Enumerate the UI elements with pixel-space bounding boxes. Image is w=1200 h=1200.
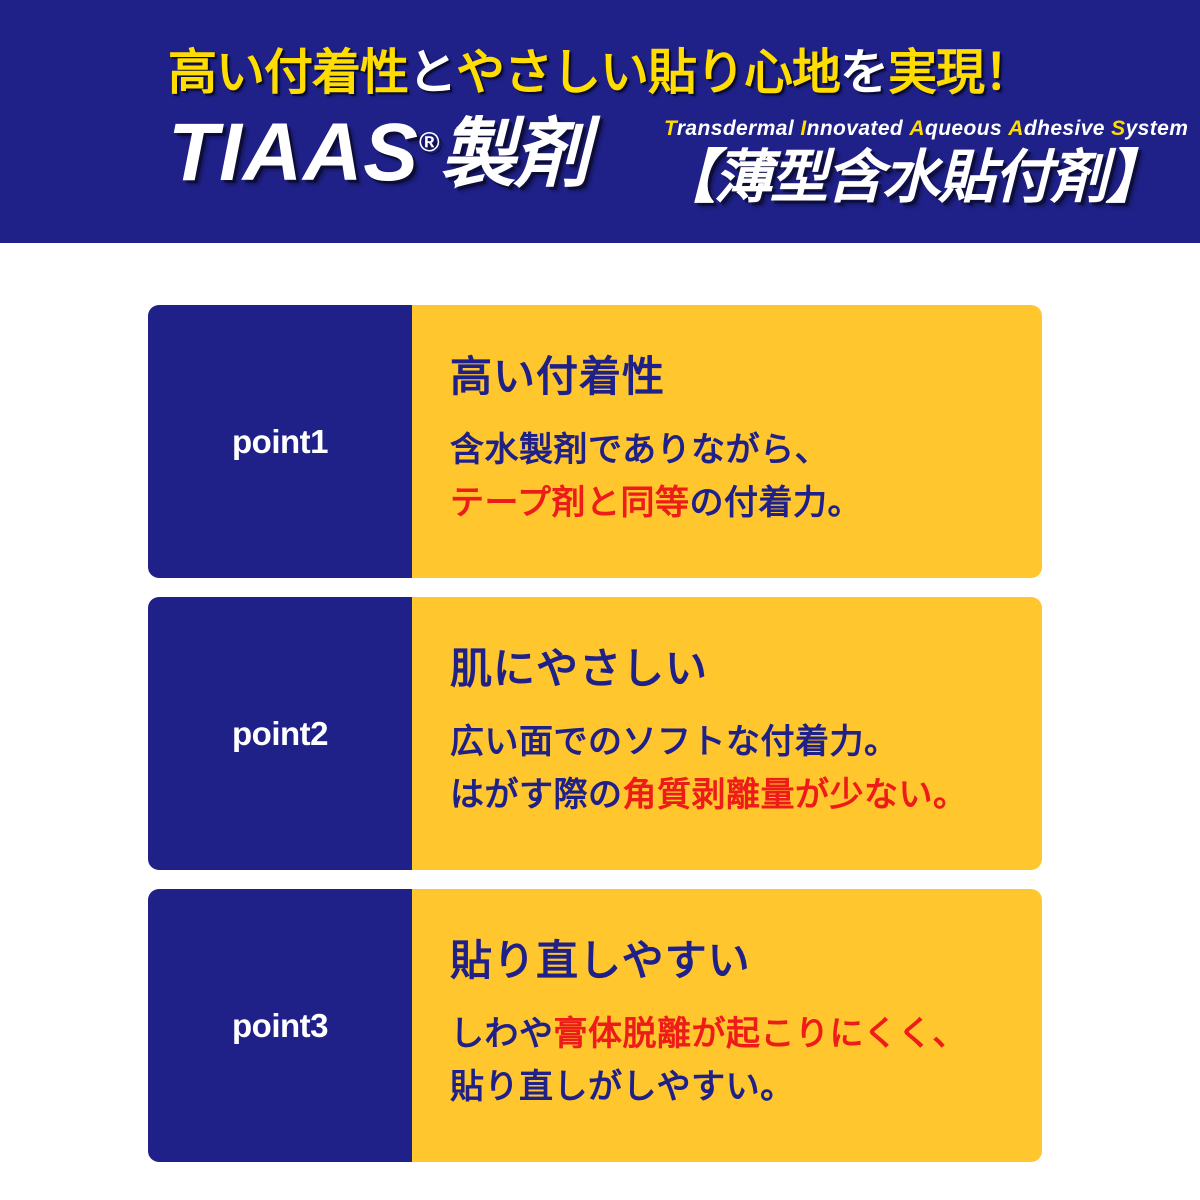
brand-subtitle: Transdermal Innovated Aqueous Adhesive S… bbox=[664, 118, 1188, 139]
brand-logo-text: TIAAS bbox=[168, 107, 419, 198]
point-card-text-run: の付着力。 bbox=[689, 483, 862, 523]
tagline-segment-5: を bbox=[840, 44, 888, 101]
point-card-text-run-highlight: 角質剥離量が少ない。 bbox=[623, 775, 968, 815]
point-card: point3 貼り直しやすい しわや膏体脱離が起こりにくく、 貼り直しがしやすい… bbox=[148, 889, 1042, 1162]
brand-logo: TIAAS®製剤 bbox=[168, 112, 588, 194]
subtitle-rest-adhesive: dhesive bbox=[1024, 117, 1105, 140]
point-card-label: point3 bbox=[148, 889, 412, 1162]
header-banner: 高い付着性とやさしい貼り心地を実現！ TIAAS®製剤 Transdermal … bbox=[0, 0, 1200, 243]
subtitle-cap-a2: A bbox=[1008, 117, 1024, 140]
point-card-text-run: 広い面でのソフトな付着力。 bbox=[450, 722, 899, 762]
subtitle-rest-system: ystem bbox=[1126, 117, 1189, 140]
point-card-line: 広い面でのソフトな付着力。 bbox=[450, 716, 1012, 769]
point-card-line: はがす際の角質剥離量が少ない。 bbox=[450, 769, 1012, 822]
banner-tagline: 高い付着性とやさしい貼り心地を実現！ bbox=[0, 48, 1200, 97]
point-card-list: point1 高い付着性 含水製剤でありながら、 テープ剤と同等の付着力。 po… bbox=[148, 305, 1042, 1181]
point-card-text-run: はがす際の bbox=[450, 775, 623, 815]
logo-row: TIAAS®製剤 Transdermal Innovated Aqueous A… bbox=[168, 112, 1068, 222]
tagline-segment-2: と bbox=[408, 44, 456, 101]
subtitle-cap-a1: A bbox=[909, 117, 925, 140]
point-card-line: しわや膏体脱離が起こりにくく、 bbox=[450, 1008, 1012, 1061]
product-category-label: 【薄型含水貼付剤】 bbox=[658, 148, 1162, 206]
brand-logo-jp: 製剤 bbox=[440, 109, 588, 198]
tagline-segment-6: 実現！ bbox=[888, 44, 1032, 101]
point-card: point2 肌にやさしい 広い面でのソフトな付着力。 はがす際の角質剥離量が少… bbox=[148, 597, 1042, 870]
registered-trademark-icon: ® bbox=[419, 127, 440, 158]
point-card-text-run: しわや bbox=[450, 1014, 554, 1054]
subtitle-cap-t: T bbox=[664, 117, 677, 140]
point-card-text-run: 含水製剤でありながら、 bbox=[450, 430, 829, 470]
point-card-label: point2 bbox=[148, 597, 412, 870]
point-card-text-run: 貼り直しがしやすい。 bbox=[450, 1067, 795, 1107]
tagline-segment-3: やさしい bbox=[456, 44, 648, 101]
point-card-line: 含水製剤でありながら、 bbox=[450, 424, 1012, 477]
point-card-heading: 高い付着性 bbox=[450, 354, 1012, 400]
point-card-heading: 肌にやさしい bbox=[450, 646, 1012, 692]
point-card-body: 貼り直しやすい しわや膏体脱離が起こりにくく、 貼り直しがしやすい。 bbox=[412, 889, 1042, 1162]
point-card-line: テープ剤と同等の付着力。 bbox=[450, 477, 1012, 530]
subtitle-cap-s: S bbox=[1111, 117, 1125, 140]
point-card-body: 高い付着性 含水製剤でありながら、 テープ剤と同等の付着力。 bbox=[412, 305, 1042, 578]
point-card-label-text: point2 bbox=[232, 715, 328, 753]
subtitle-rest-transdermal: ransdermal bbox=[677, 117, 794, 140]
point-card-label-text: point1 bbox=[232, 423, 328, 461]
point-card-label: point1 bbox=[148, 305, 412, 578]
point-card-heading: 貼り直しやすい bbox=[450, 938, 1012, 984]
subtitle-rest-aqueous: queous bbox=[925, 117, 1002, 140]
point-card-text-run-highlight: テープ剤と同等 bbox=[450, 483, 689, 523]
point-card-body: 肌にやさしい 広い面でのソフトな付着力。 はがす際の角質剥離量が少ない。 bbox=[412, 597, 1042, 870]
point-card-line: 貼り直しがしやすい。 bbox=[450, 1061, 1012, 1114]
point-card-label-text: point3 bbox=[232, 1007, 328, 1045]
point-card: point1 高い付着性 含水製剤でありながら、 テープ剤と同等の付着力。 bbox=[148, 305, 1042, 578]
tagline-segment-1: 高い付着性 bbox=[168, 44, 408, 101]
tagline-segment-4: 貼り心地 bbox=[648, 44, 840, 101]
point-card-text-run-highlight: 膏体脱離が起こりにくく、 bbox=[554, 1014, 967, 1054]
subtitle-rest-innovated: nnovated bbox=[807, 117, 904, 140]
